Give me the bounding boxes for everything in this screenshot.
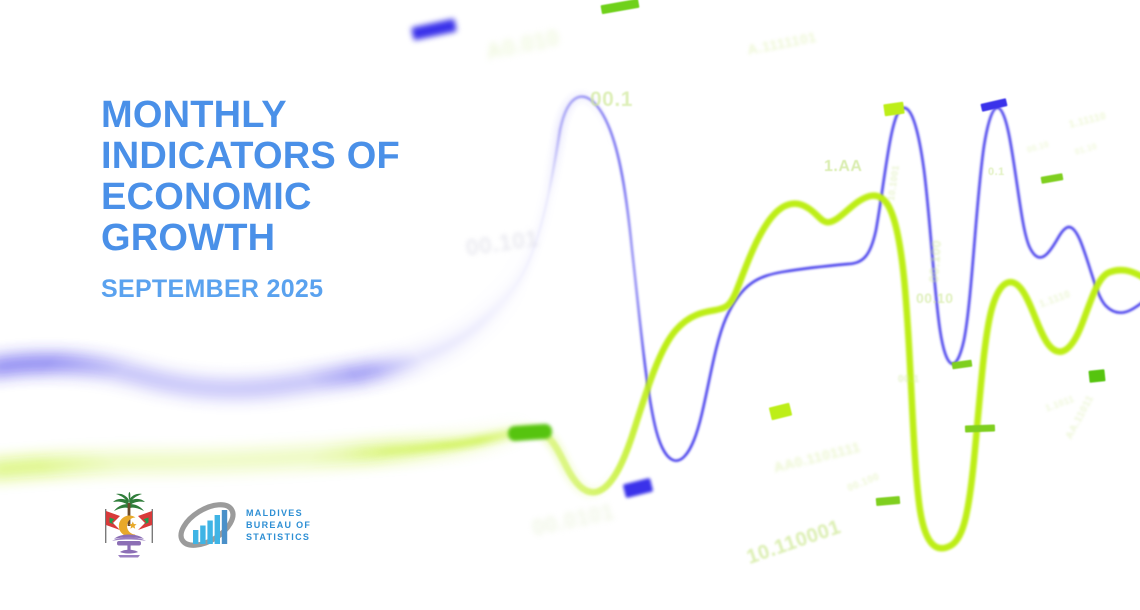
mbs-logo-block: MALDIVES BUREAU OF STATISTICS [176,497,311,553]
mbs-growth-chart-icon [176,497,238,553]
page-subtitle-date: SEPTEMBER 2025 [101,275,521,303]
title-line-1: MONTHLY [101,94,287,136]
title-line-2: INDICATORS OF [101,135,400,177]
page-title: MONTHLY INDICATORS OF ECONOMIC GROWTH [101,95,521,259]
title-block: MONTHLY INDICATORS OF ECONOMIC GROWTH SE… [101,95,521,303]
mbs-name-line-3: STATISTICS [246,531,311,543]
mbs-name-line-1: MALDIVES [246,507,311,519]
title-line-4: GROWTH [101,217,275,259]
mbs-wordmark: MALDIVES BUREAU OF STATISTICS [246,507,311,543]
maldives-national-emblem-icon [98,492,160,558]
mbs-name-line-2: BUREAU OF [246,519,311,531]
title-line-3: ECONOMIC [101,176,312,218]
report-cover-page: A0.01000.1A.111110100.1011.AA0.11.111100… [0,0,1140,610]
logo-group: MALDIVES BUREAU OF STATISTICS [98,492,311,558]
